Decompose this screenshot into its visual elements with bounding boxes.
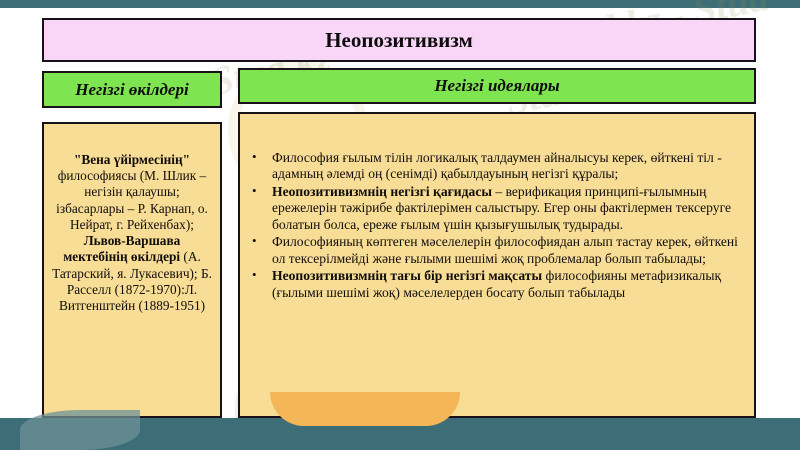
template-band-top <box>0 0 800 8</box>
bullet-lead: Неопозитивизмнің тағы бір негізгі мақсат… <box>272 268 542 283</box>
representatives-text: "Вена үйірмесінің" философиясы (М. Шлик … <box>50 152 214 314</box>
column-header-representatives: Негізгі өкілдері <box>42 71 222 108</box>
column-body-ideas: Философия ғылым тілін логикалық талдауме… <box>238 112 756 418</box>
column-header-label: Негізгі идеялары <box>434 76 559 96</box>
list-item: Неопозитивизмнің негізгі қағидасы – вери… <box>248 184 744 233</box>
column-header-label: Негізгі өкілдері <box>75 80 188 100</box>
representatives-segment: философиясы (М. Шлик – негізін қалаушы; … <box>56 168 208 232</box>
slide: Stud.kz - Stud Stud.kz Stud.kz Stud.kz -… <box>0 0 800 450</box>
bullet-text: Философияның көптеген мәселелерін филосо… <box>272 234 738 265</box>
list-item: Философияның көптеген мәселелерін филосо… <box>248 234 744 267</box>
bullet-text: Философия ғылым тілін логикалық талдауме… <box>272 150 722 181</box>
column-body-representatives: "Вена үйірмесінің" философиясы (М. Шлик … <box>42 122 222 418</box>
representatives-emphasis: Львов-Варшава мектебінің өкілдері <box>63 233 180 264</box>
page-title: Неопозитивизм <box>44 20 754 60</box>
list-item: Неопозитивизмнің тағы бір негізгі мақсат… <box>248 268 744 301</box>
template-leaf-shape <box>20 410 140 450</box>
column-header-ideas: Негізгі идеялары <box>238 68 756 104</box>
ideas-bullet-list: Философия ғылым тілін логикалық талдауме… <box>248 150 744 301</box>
representatives-emphasis: "Вена үйірмесінің" <box>74 152 190 167</box>
slide-title-box: Неопозитивизм <box>42 18 756 62</box>
bullet-lead: Неопозитивизмнің негізгі қағидасы <box>272 184 492 199</box>
list-item: Философия ғылым тілін логикалық талдауме… <box>248 150 744 183</box>
template-swoosh-shape <box>270 392 460 426</box>
